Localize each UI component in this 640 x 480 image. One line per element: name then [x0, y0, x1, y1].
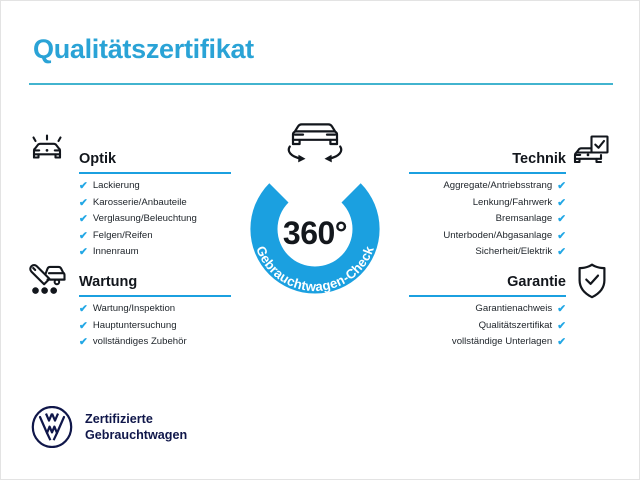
checklist-item: ✔Innenraum — [79, 244, 231, 261]
check-icon: ✔ — [79, 321, 88, 332]
section-divider — [79, 172, 231, 174]
section-header: Technik — [409, 144, 566, 174]
checklist-item-label: Verglasung/Beleuchtung — [93, 211, 197, 228]
checklist-item: ✔Lackierung — [79, 178, 231, 195]
car-rotate-icon — [273, 113, 357, 169]
checklist-item-label: Bremsanlage — [496, 211, 553, 228]
check-icon: ✔ — [79, 337, 88, 348]
check-icon: ✔ — [79, 181, 88, 192]
checklist-item: Unterboden/Abgasanlage✔ — [409, 228, 566, 245]
check-icon: ✔ — [557, 321, 566, 332]
checklist-item-label: Hauptuntersuchung — [93, 318, 177, 335]
checklist-item-label: Karosserie/Anbauteile — [93, 195, 187, 212]
checklist-item: ✔Verglasung/Beleuchtung — [79, 211, 231, 228]
checklist-item-label: vollständiges Zubehör — [93, 334, 187, 351]
checklist: Aggregate/Antriebsstrang✔Lenkung/Fahrwer… — [409, 174, 566, 261]
checklist-item-label: Qualitätszertifikat — [479, 318, 553, 335]
checklist-item: ✔Felgen/Reifen — [79, 228, 231, 245]
checklist: ✔Wartung/Inspektion✔Hauptuntersuchung✔vo… — [79, 297, 231, 351]
checklist: Garantienachweis✔Qualitätszertifikat✔vol… — [409, 297, 566, 351]
checklist-item: ✔Hauptuntersuchung — [79, 318, 231, 335]
check-icon: ✔ — [79, 198, 88, 209]
checklist-item: Garantienachweis✔ — [409, 301, 566, 318]
section-title: Optik — [79, 151, 116, 167]
footer-text: Zertifizierte Gebrauchtwagen — [85, 411, 187, 443]
section-divider — [409, 172, 566, 174]
vw-logo — [31, 406, 73, 448]
checklist-item: Lenkung/Fahrwerk✔ — [409, 195, 566, 212]
check-icon: ✔ — [557, 304, 566, 315]
page-title: Qualitätszertifikat — [33, 34, 254, 65]
checklist-item: ✔vollständiges Zubehör — [79, 334, 231, 351]
title-divider — [29, 83, 613, 85]
checklist-item: Bremsanlage✔ — [409, 211, 566, 228]
check-icon: ✔ — [557, 231, 566, 242]
checklist-item: ✔Wartung/Inspektion — [79, 301, 231, 318]
footer-branding: Zertifizierte Gebrauchtwagen — [31, 406, 187, 448]
checklist-item: Aggregate/Antriebsstrang✔ — [409, 178, 566, 195]
check-icon: ✔ — [557, 198, 566, 209]
section-optik: Optik ✔Lackierung✔Karosserie/Anbauteile✔… — [79, 144, 231, 261]
checklist-item-label: Aggregate/Antriebsstrang — [443, 178, 552, 195]
section-garantie: Garantie Garantienachweis✔Qualitätszerti… — [409, 267, 566, 351]
car-checkbox-icon — [570, 134, 610, 177]
checklist-item: Qualitätszertifikat✔ — [409, 318, 566, 335]
section-title: Garantie — [507, 274, 566, 290]
shield-check-icon — [576, 262, 608, 305]
certificate-page: Qualitätszertifikat — [0, 0, 640, 480]
section-divider — [409, 295, 566, 297]
check-icon: ✔ — [79, 214, 88, 225]
checklist-item-label: Garantienachweis — [475, 301, 552, 318]
checklist-item-label: Lenkung/Fahrwerk — [473, 195, 552, 212]
checklist-item-label: Lackierung — [93, 178, 140, 195]
section-header: Garantie — [409, 267, 566, 297]
checklist-item-label: Felgen/Reifen — [93, 228, 153, 245]
check-icon: ✔ — [79, 247, 88, 258]
badge-degrees: 360° — [235, 149, 395, 309]
checklist-item: ✔Karosserie/Anbauteile — [79, 195, 231, 212]
checklist-item-label: Wartung/Inspektion — [93, 301, 175, 318]
checklist-item-label: Sicherheit/Elektrik — [475, 244, 552, 261]
check-icon: ✔ — [557, 247, 566, 258]
section-header: Wartung — [79, 267, 231, 297]
check-icon: ✔ — [557, 214, 566, 225]
section-title: Wartung — [79, 274, 137, 290]
360-badge: Gebrauchtwagen-Check 360° — [235, 149, 395, 309]
check-icon: ✔ — [557, 181, 566, 192]
check-icon: ✔ — [557, 337, 566, 348]
checklist-item: vollständige Unterlagen✔ — [409, 334, 566, 351]
check-icon: ✔ — [79, 304, 88, 315]
checklist-item: Sicherheit/Elektrik✔ — [409, 244, 566, 261]
wrench-car-icon — [25, 260, 69, 305]
section-header: Optik — [79, 144, 231, 174]
section-wartung: Wartung ✔Wartung/Inspektion✔Hauptuntersu… — [79, 267, 231, 351]
checklist-item-label: Unterboden/Abgasanlage — [443, 228, 552, 245]
section-technik: Technik Aggregate/Antriebsstrang✔Lenkung… — [409, 144, 566, 261]
section-divider — [79, 295, 231, 297]
check-icon: ✔ — [79, 231, 88, 242]
checklist-item-label: vollständige Unterlagen — [452, 334, 552, 351]
footer-line-2: Gebrauchtwagen — [85, 427, 187, 443]
section-title: Technik — [512, 151, 566, 167]
checklist-item-label: Innenraum — [93, 244, 139, 261]
checklist: ✔Lackierung✔Karosserie/Anbauteile✔Vergla… — [79, 174, 231, 261]
car-shine-icon — [27, 132, 67, 177]
footer-line-1: Zertifizierte — [85, 411, 187, 427]
